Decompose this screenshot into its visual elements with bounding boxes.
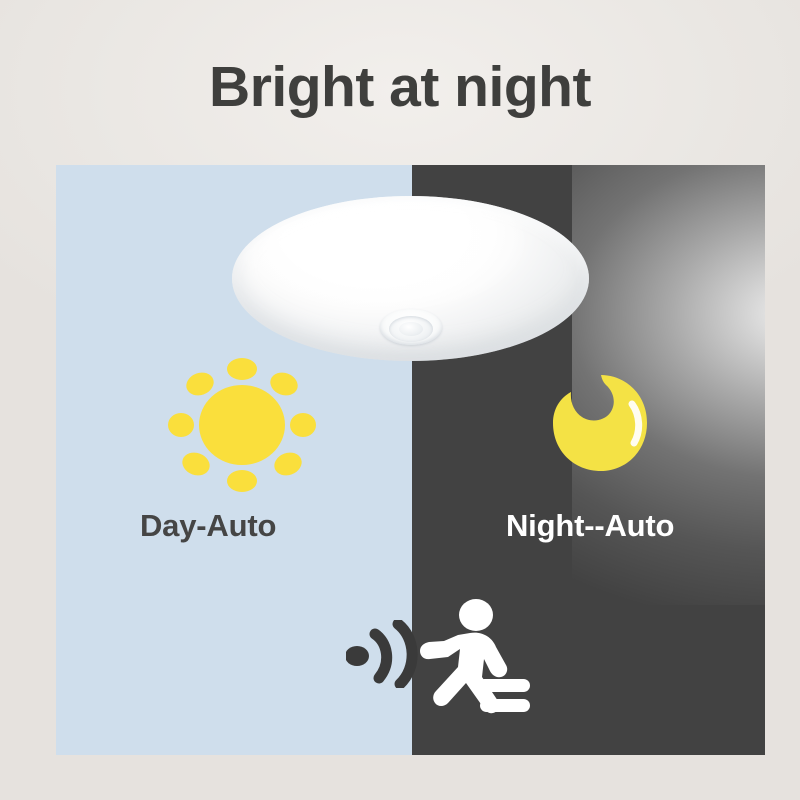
sun-icon	[168, 357, 316, 493]
moon-icon	[546, 371, 656, 475]
pir-sensor	[380, 309, 442, 345]
ceiling-lamp	[232, 196, 589, 361]
night-mode-label: Night--Auto	[506, 508, 674, 544]
comparison-panel: Day-Auto Night--Auto	[56, 165, 765, 755]
product-feature-image: Bright at night	[0, 0, 800, 800]
signal-wave-icon	[346, 620, 418, 688]
day-mode-label: Day-Auto	[140, 508, 276, 544]
sensor-lens	[399, 322, 423, 336]
page-title: Bright at night	[0, 56, 800, 119]
walking-person-icon	[418, 597, 534, 715]
